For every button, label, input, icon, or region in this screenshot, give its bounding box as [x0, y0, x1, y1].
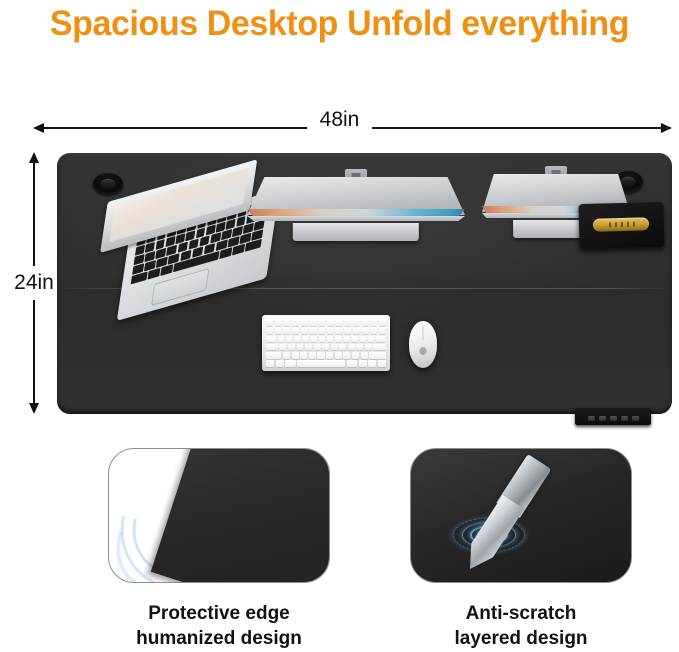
keypad-button[interactable] — [588, 416, 595, 421]
mouse-logo-icon — [420, 347, 427, 355]
caption-line-2: humanized design — [69, 626, 369, 651]
monitor-stand-base — [293, 223, 419, 241]
height-control-keypad[interactable] — [575, 408, 651, 425]
caption-line-2: layered design — [371, 626, 671, 651]
key-row — [266, 327, 386, 334]
key-row — [266, 336, 386, 343]
key-row — [266, 319, 386, 326]
keypad-button[interactable] — [610, 416, 617, 421]
desk-surface — [57, 153, 672, 414]
width-dimension-label: 48in — [307, 108, 373, 132]
monitor-left — [247, 177, 465, 225]
arrow-head-bottom-icon — [29, 403, 39, 414]
mouse — [409, 321, 437, 368]
feature-panel-anti-scratch — [410, 448, 632, 583]
caption-protective-edge: Protective edge humanized design — [69, 601, 369, 651]
arrow-head-right-icon — [661, 123, 672, 133]
feature-panel-protective-edge — [108, 448, 330, 583]
key-row — [266, 352, 386, 359]
keypad-button[interactable] — [599, 416, 606, 421]
keypad-button[interactable] — [621, 416, 628, 421]
accessory-box — [578, 202, 664, 249]
cable-grommet-left-icon — [93, 173, 123, 195]
key-row — [266, 344, 386, 351]
key-row — [266, 360, 386, 367]
keyboard — [262, 315, 390, 371]
monitor-screen-edge — [247, 209, 465, 217]
monitor-bezel-bottom — [247, 216, 465, 221]
accessory-gold-badge — [593, 217, 649, 231]
keypad-button[interactable] — [632, 416, 639, 421]
page-title: Spacious Desktop Unfold everything — [10, 0, 669, 48]
caption-anti-scratch: Anti-scratch layered design — [371, 601, 671, 651]
caption-line-1: Anti-scratch — [466, 603, 577, 624]
depth-dimension-label: 24in — [13, 266, 55, 300]
caption-line-1: Protective edge — [148, 603, 290, 624]
